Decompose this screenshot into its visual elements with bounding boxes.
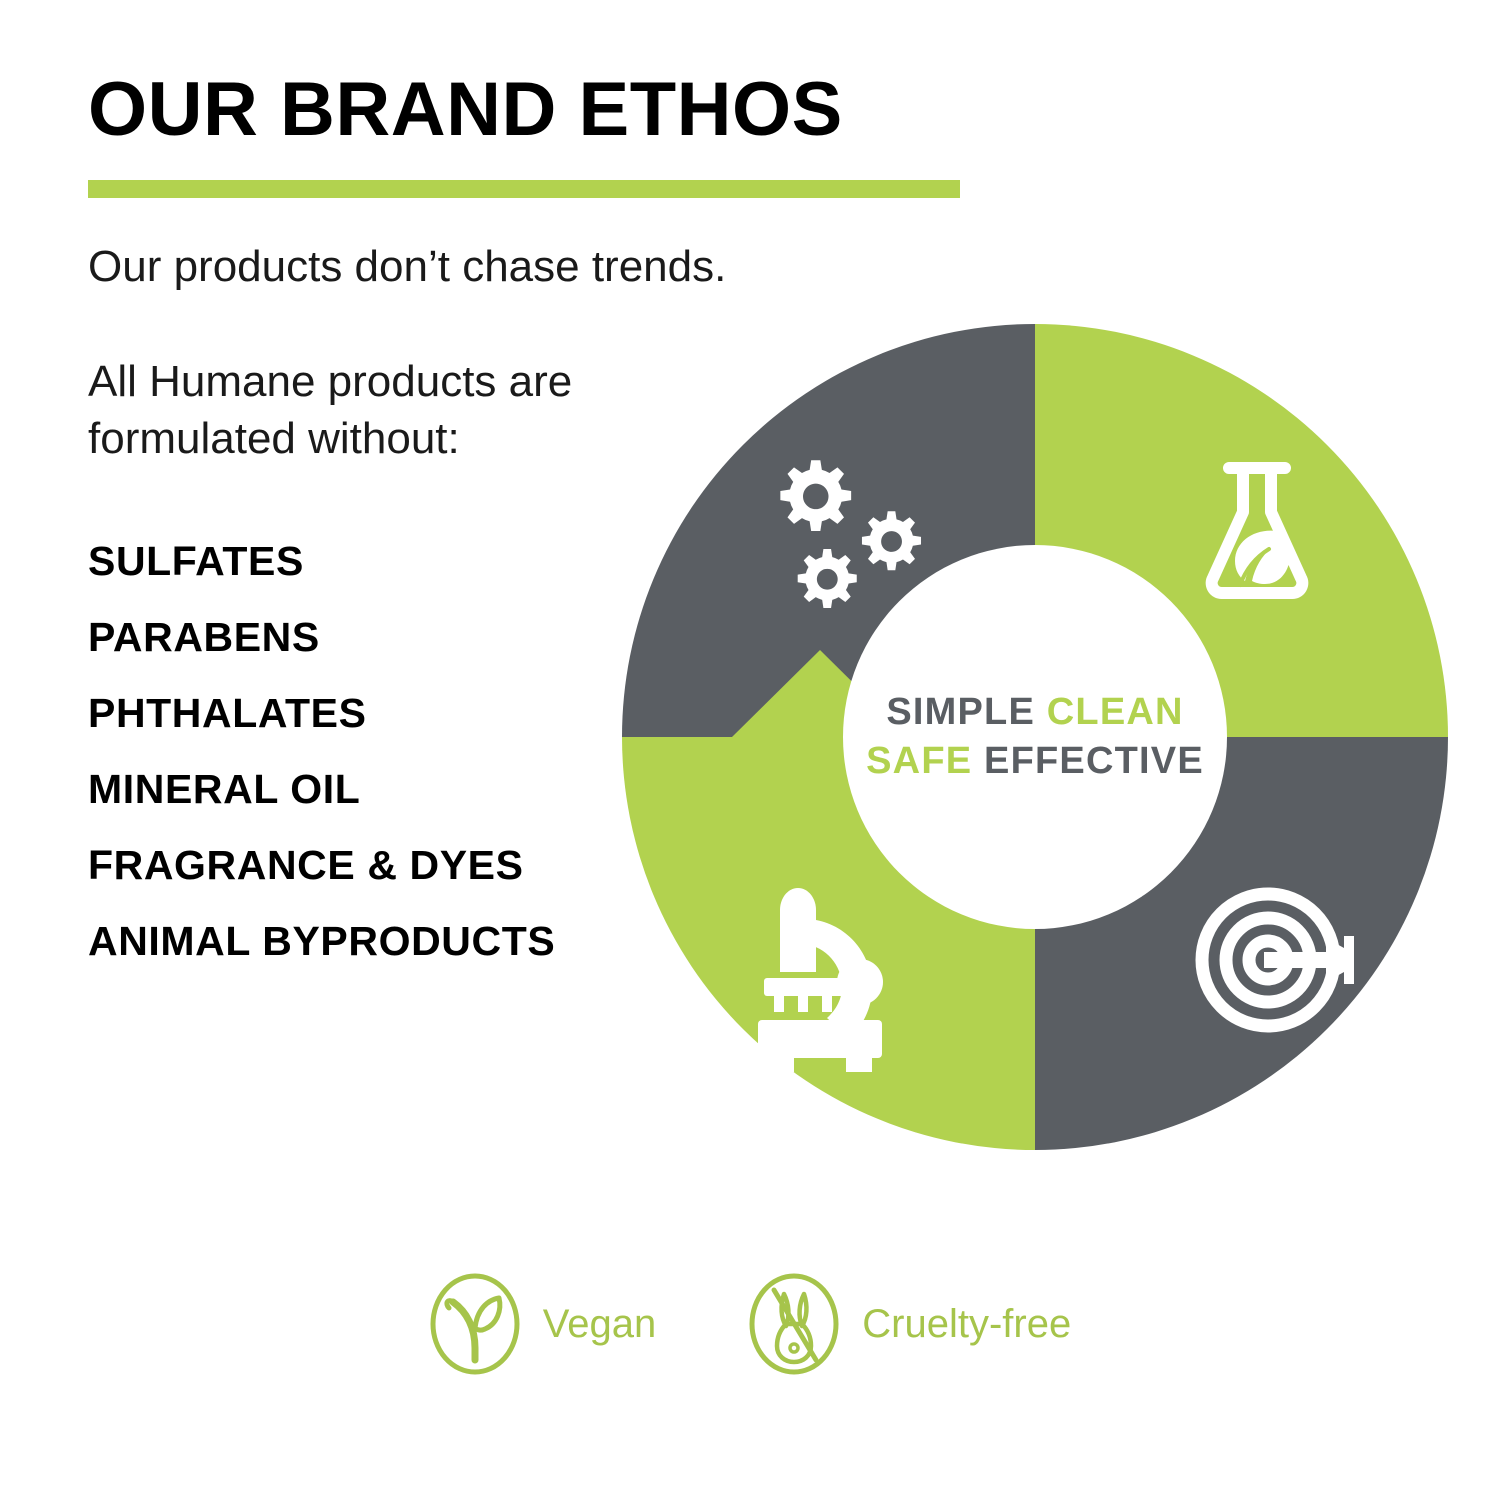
list-item: ANIMAL BYPRODUCTS	[88, 921, 708, 962]
tagline-text: Our products don’t chase trends.	[88, 242, 708, 293]
list-item: SULFATES	[88, 541, 708, 582]
badge-cruelty-free: Cruelty-free	[748, 1272, 1071, 1376]
cruelty-free-rabbit-icon	[748, 1272, 840, 1376]
segment-top-right	[1035, 322, 1450, 737]
list-item: PHTHALATES	[88, 693, 708, 734]
cycle-donut-svg	[620, 322, 1450, 1152]
intro-text: All Humane products are formulated witho…	[88, 353, 708, 467]
list-item: MINERAL OIL	[88, 769, 708, 810]
badge-vegan: Vegan	[429, 1272, 656, 1376]
certification-badge-row: Vegan Cruelty-free	[0, 1272, 1500, 1376]
excluded-ingredients-list: SULFATES PARABENS PHTHALATES MINERAL OIL…	[88, 541, 708, 962]
list-item: PARABENS	[88, 617, 708, 658]
brand-ethos-cycle-diagram: SIMPLE CLEAN SAFE EFFECTIVE	[620, 322, 1450, 1152]
page-title: OUR BRAND ETHOS	[88, 72, 708, 148]
intro-column: OUR BRAND ETHOS Our products don’t chase…	[88, 72, 708, 997]
vegan-sprout-icon	[429, 1272, 521, 1376]
list-item: FRAGRANCE & DYES	[88, 845, 708, 886]
title-underline-rule	[88, 180, 960, 198]
segment-bottom-right	[1035, 737, 1450, 1152]
badge-cruelty-free-label: Cruelty-free	[862, 1302, 1071, 1347]
badge-vegan-label: Vegan	[543, 1302, 656, 1347]
